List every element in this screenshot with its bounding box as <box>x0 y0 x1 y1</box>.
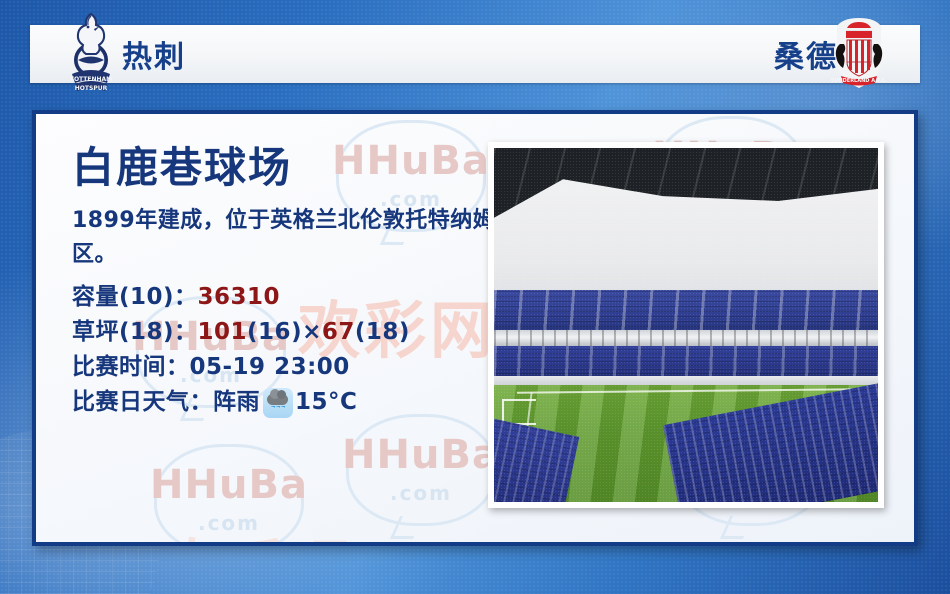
pitch-size-label: 草坪(18)： <box>72 315 198 350</box>
kickoff-time-row: 比赛时间： 05-19 23:00 <box>72 350 502 385</box>
capacity-label: 容量(10)： <box>72 280 198 315</box>
watermark-bubble: HHuBa .com <box>154 444 304 546</box>
capacity-value: 36310 <box>198 280 281 315</box>
capacity-row: 容量(10)： 36310 <box>72 280 502 315</box>
pitch-width-rank: (18) <box>355 315 410 350</box>
watermark-brand: HHuBa <box>150 465 308 505</box>
rain-shower-icon <box>263 388 293 418</box>
match-header-bar: 热刺 桑德兰 <box>30 25 920 83</box>
kickoff-time-label: 比赛时间： <box>72 350 190 385</box>
watermark-domain: .com <box>390 481 452 505</box>
watermark-domain: .com <box>198 511 260 535</box>
watermark-bubble: HHuBa .com <box>346 414 496 526</box>
match-stadium-infographic: 热刺 桑德兰 TOTTENHAM HOTSPUR <box>0 0 950 594</box>
stadium-photo <box>494 148 878 502</box>
kickoff-time-value: 05-19 23:00 <box>190 350 350 385</box>
stadium-description: 1899年建成，位于英格兰北伦敦托特纳姆区。 <box>72 204 502 272</box>
stadium-name: 白鹿巷球场 <box>72 146 502 190</box>
stadium-details: 白鹿巷球场 1899年建成，位于英格兰北伦敦托特纳姆区。 容量(10)： 363… <box>72 146 502 420</box>
weather-condition: 阵雨 <box>213 385 260 420</box>
weather-label: 比赛日天气： <box>72 385 213 420</box>
tottenham-hotspur-crest-icon: TOTTENHAM HOTSPUR <box>60 10 122 94</box>
pitch-size-separator: × <box>302 315 322 350</box>
pitch-length-value: 101 <box>198 315 248 350</box>
watermark-chinese-brand: 欢呼吧 <box>156 538 354 546</box>
matchday-weather-row: 比赛日天气： 阵雨 15°C <box>72 385 502 420</box>
svg-text:SUNDERLAND A.F.C.: SUNDERLAND A.F.C. <box>831 78 888 84</box>
pitch-width-value: 67 <box>322 315 355 350</box>
weather-temperature: 15°C <box>295 385 357 420</box>
watermark-brand: HHuBa <box>342 435 500 475</box>
stadium-photo-frame <box>488 142 884 508</box>
home-team-name: 热刺 <box>122 32 186 76</box>
stadium-info-panel: HHuBa .com HHuBa .com HHuBa .com HHuBa .… <box>32 110 918 546</box>
pitch-size-row: 草坪(18)： 101 (16) × 67 (18) <box>72 315 502 350</box>
sunderland-afc-crest-icon: SUNDERLAND A.F.C. <box>828 10 890 94</box>
svg-text:HOTSPUR: HOTSPUR <box>75 85 108 92</box>
pitch-length-rank: (16) <box>247 315 302 350</box>
